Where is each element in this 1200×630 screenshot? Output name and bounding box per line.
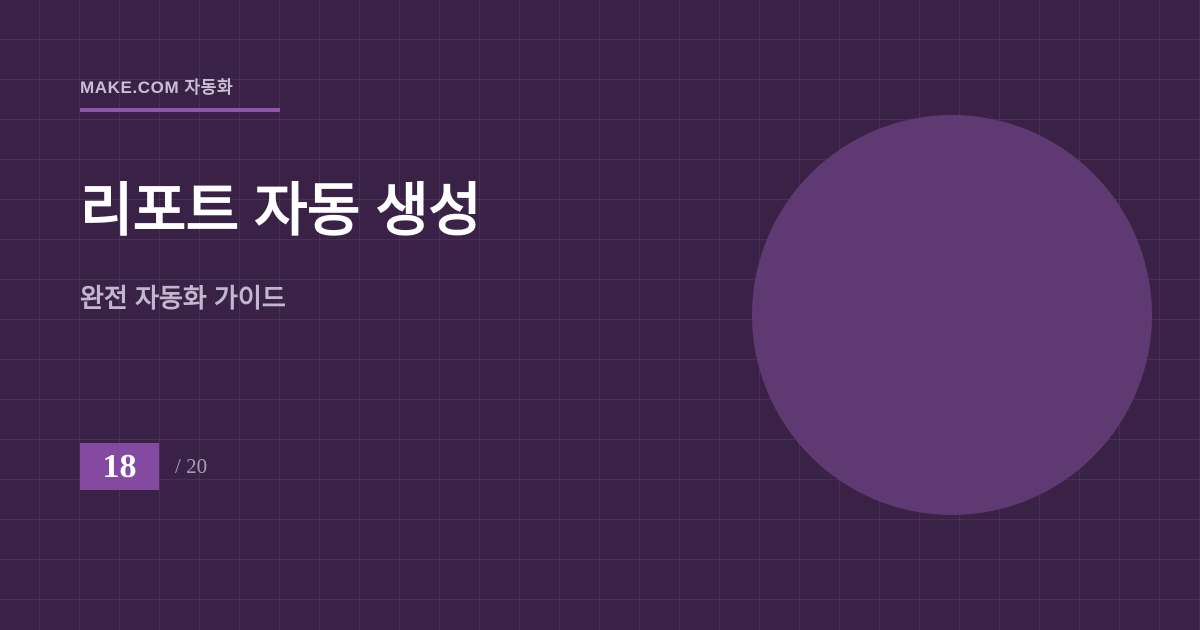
accent-bar [80, 108, 280, 112]
decorative-circle [752, 115, 1152, 515]
eyebrow-block: MAKE.COM 자동화 [80, 78, 280, 112]
page-title: 리포트 자동 생성 [80, 178, 481, 245]
title-slide: MAKE.COM 자동화 리포트 자동 생성 완전 자동화 가이드 18 / 2… [0, 0, 1200, 630]
total-pages-label: / 20 [175, 456, 207, 477]
page-counter: 18 / 20 [80, 443, 207, 490]
page-subtitle: 완전 자동화 가이드 [80, 282, 286, 316]
current-page-badge: 18 [80, 443, 159, 490]
eyebrow-label: MAKE.COM 자동화 [80, 78, 280, 98]
slide-content: MAKE.COM 자동화 리포트 자동 생성 완전 자동화 가이드 18 / 2… [80, 0, 780, 630]
